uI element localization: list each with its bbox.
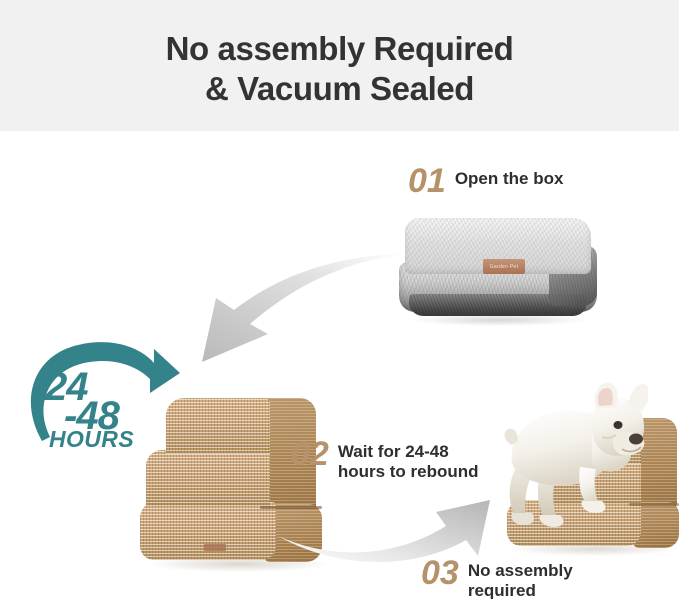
- step-02-text: Wait for 24-48 hours to rebound: [338, 437, 479, 482]
- french-bulldog-illustration: [496, 375, 648, 535]
- badge-unit-label: HOURS: [49, 427, 134, 452]
- step-01: 01 Open the box: [408, 164, 563, 198]
- step-01-number: 01: [408, 164, 446, 198]
- package-brand-label: Garden Pet: [483, 259, 525, 274]
- arrow-box-to-stairs-icon: [176, 250, 412, 368]
- vacuum-sealed-package: Garden Pet: [399, 218, 597, 322]
- page-title: No assembly Required & Vacuum Sealed: [0, 29, 679, 109]
- left-stairs-brand-tag: [204, 544, 226, 551]
- step-01-text: Open the box: [455, 164, 564, 189]
- step-03: 03 No assembly required: [421, 556, 573, 599]
- left-stairs-seam: [260, 506, 322, 509]
- step-02: 02 Wait for 24-48 hours to rebound: [291, 437, 479, 482]
- left-stairs-step-3: [140, 502, 276, 560]
- step-03-text: No assembly required: [468, 556, 573, 599]
- left-stairs-step-2: [146, 450, 270, 506]
- step-02-number: 02: [291, 437, 329, 471]
- step-03-number: 03: [421, 556, 459, 590]
- infographic-canvas: No assembly Required & Vacuum Sealed Gar…: [0, 0, 679, 599]
- left-stairs-step-1: [166, 398, 270, 454]
- pet-stairs-rebounded: [140, 398, 330, 570]
